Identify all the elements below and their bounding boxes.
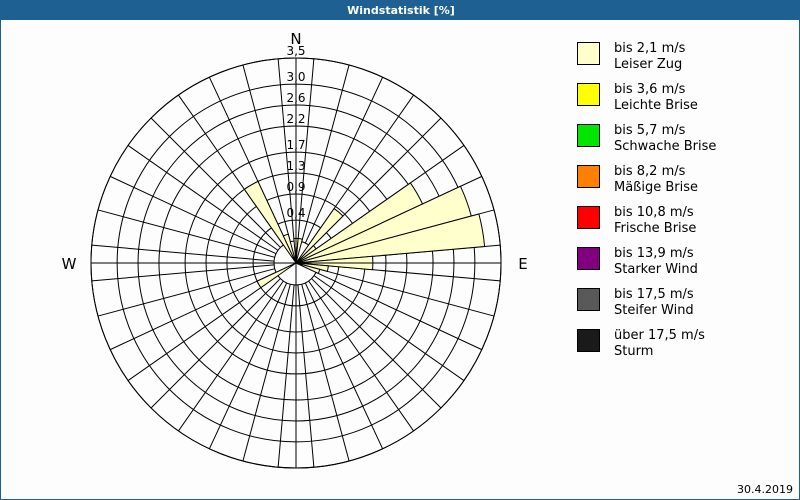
window-title: Windstatistik [%] bbox=[347, 4, 455, 17]
legend-color-swatch bbox=[577, 247, 600, 270]
radial-tick-label: 0,9 bbox=[286, 180, 305, 194]
radial-tick-label: 0,4 bbox=[286, 206, 305, 220]
grid-spoke bbox=[151, 118, 280, 247]
legend-item[interactable]: bis 8,2 m/sMäßige Brise bbox=[577, 164, 799, 196]
grid-spoke bbox=[317, 269, 494, 316]
radial-tick-label: 2,6 bbox=[286, 91, 305, 105]
legend-item[interactable]: bis 17,5 m/sSteifer Wind bbox=[577, 287, 799, 319]
legend-speed-range: bis 17,5 m/s bbox=[614, 287, 694, 303]
grid-spoke bbox=[302, 284, 349, 461]
grid-spoke bbox=[98, 269, 275, 316]
grid-spoke bbox=[316, 272, 482, 349]
compass-label-e: E bbox=[518, 255, 527, 273]
grid-spoke bbox=[312, 279, 441, 408]
grid-spoke bbox=[92, 245, 274, 261]
legend-label: bis 2,1 m/sLeiser Zug bbox=[614, 41, 685, 73]
legend-beaufort-name: Starker Wind bbox=[614, 262, 698, 278]
legend-speed-range: bis 3,6 m/s bbox=[614, 82, 698, 98]
grid-spoke bbox=[151, 279, 280, 408]
grid-spoke bbox=[305, 283, 382, 449]
grid-spoke bbox=[243, 284, 290, 461]
legend-beaufort-name: Mäßige Brise bbox=[614, 180, 698, 196]
legend-item[interactable]: bis 10,8 m/sFrische Brise bbox=[577, 205, 799, 237]
grid-spoke bbox=[298, 285, 314, 467]
windrose-plot: 0,40,91,31,72,22,63,03,5 NSEW bbox=[1, 20, 571, 480]
grid-spoke bbox=[209, 283, 286, 449]
radial-tick-label: 2,2 bbox=[286, 112, 305, 126]
legend-beaufort-name: Leiser Zug bbox=[614, 57, 685, 73]
legend: bis 2,1 m/sLeiser Zugbis 3,6 m/sLeichte … bbox=[577, 41, 799, 369]
legend-speed-range: bis 8,2 m/s bbox=[614, 164, 698, 180]
legend-item[interactable]: bis 5,7 m/sSchwache Brise bbox=[577, 123, 799, 155]
legend-label: bis 10,8 m/sFrische Brise bbox=[614, 205, 696, 237]
legend-label: bis 13,9 m/sStarker Wind bbox=[614, 246, 698, 278]
legend-label: bis 3,6 m/sLeichte Brise bbox=[614, 82, 698, 114]
grid-spoke bbox=[309, 281, 414, 431]
date-stamp: 30.4.2019 bbox=[737, 483, 793, 496]
legend-label: bis 17,5 m/sSteifer Wind bbox=[614, 287, 694, 319]
legend-color-swatch bbox=[577, 165, 600, 188]
legend-label: über 17,5 m/sSturm bbox=[614, 328, 705, 360]
legend-label: bis 8,2 m/sMäßige Brise bbox=[614, 164, 698, 196]
legend-color-swatch bbox=[577, 288, 600, 311]
legend-beaufort-name: Steifer Wind bbox=[614, 303, 694, 319]
grid-spoke bbox=[92, 265, 274, 281]
grid-spoke bbox=[110, 272, 276, 349]
compass-label-w: W bbox=[62, 255, 77, 273]
grid-spoke bbox=[278, 285, 294, 467]
grid-spoke bbox=[128, 276, 278, 381]
legend-color-swatch bbox=[577, 206, 600, 229]
window-titlebar: Windstatistik [%] bbox=[1, 1, 800, 20]
legend-color-swatch bbox=[577, 83, 600, 106]
legend-beaufort-name: Sturm bbox=[614, 344, 705, 360]
radial-tick-label: 1,3 bbox=[286, 159, 305, 173]
compass-label-n: N bbox=[290, 30, 301, 48]
legend-beaufort-name: Leichte Brise bbox=[614, 98, 698, 114]
legend-color-swatch bbox=[577, 42, 600, 65]
legend-color-swatch bbox=[577, 329, 600, 352]
legend-speed-range: bis 10,8 m/s bbox=[614, 205, 696, 221]
legend-color-swatch bbox=[577, 124, 600, 147]
legend-beaufort-name: Frische Brise bbox=[614, 221, 696, 237]
legend-item[interactable]: bis 3,6 m/sLeichte Brise bbox=[577, 82, 799, 114]
legend-item[interactable]: über 17,5 m/sSturm bbox=[577, 328, 799, 360]
legend-item[interactable]: bis 2,1 m/sLeiser Zug bbox=[577, 41, 799, 73]
windstatistik-window: Windstatistik [%] 0,40,91,31,72,22,63,03… bbox=[0, 0, 800, 500]
legend-label: bis 5,7 m/sSchwache Brise bbox=[614, 123, 716, 155]
grid-spoke bbox=[178, 281, 283, 431]
grid-spoke bbox=[98, 210, 275, 257]
legend-speed-range: bis 2,1 m/s bbox=[614, 41, 685, 57]
legend-speed-range: bis 13,9 m/s bbox=[614, 246, 698, 262]
legend-item[interactable]: bis 13,9 m/sStarker Wind bbox=[577, 246, 799, 278]
legend-beaufort-name: Schwache Brise bbox=[614, 139, 716, 155]
grid-spoke bbox=[314, 276, 464, 381]
windrose-svg: 0,40,91,31,72,22,63,03,5 NSEW bbox=[1, 20, 571, 480]
radial-tick-label: 1,7 bbox=[286, 138, 305, 152]
legend-speed-range: bis 5,7 m/s bbox=[614, 123, 716, 139]
legend-speed-range: über 17,5 m/s bbox=[614, 328, 705, 344]
radial-tick-label: 3,0 bbox=[286, 70, 305, 84]
